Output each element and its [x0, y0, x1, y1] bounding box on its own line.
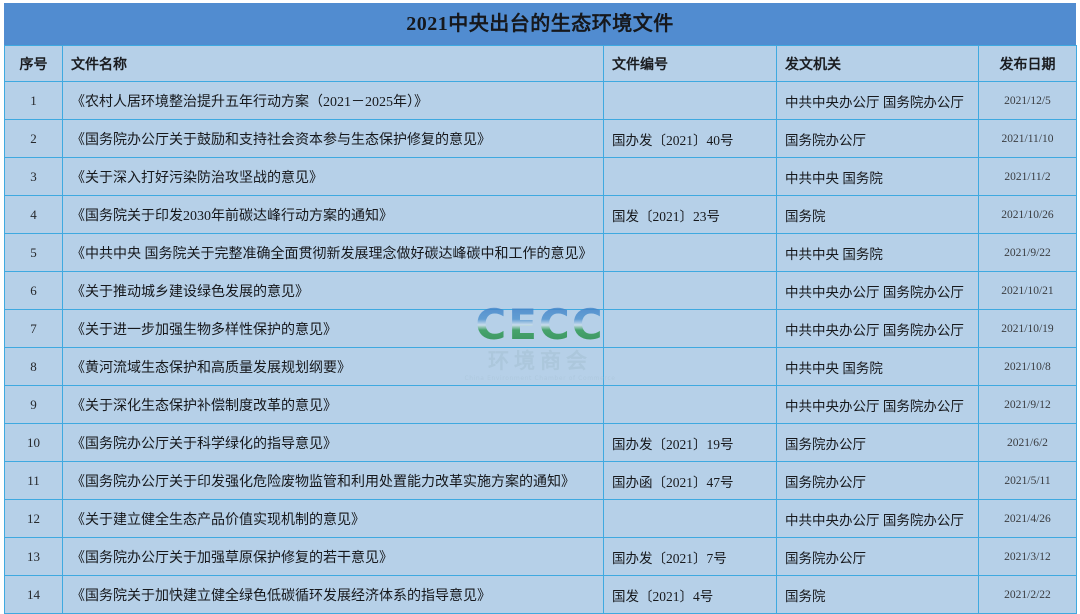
cell-date: 2021/12/5	[979, 82, 1077, 120]
cell-index: 9	[5, 386, 63, 424]
cell-issuer: 国务院办公厅	[777, 462, 979, 500]
cell-number	[604, 158, 777, 196]
column-header-name: 文件名称	[63, 46, 604, 82]
table-row: 10《国务院办公厅关于科学绿化的指导意见》国办发〔2021〕19号国务院办公厅2…	[5, 424, 1077, 462]
cell-number: 国发〔2021〕23号	[604, 196, 777, 234]
table-body: 1《农村人居环境整治提升五年行动方案（2021－2025年）》中共中央办公厅 国…	[5, 82, 1077, 614]
cell-index: 1	[5, 82, 63, 120]
cell-date: 2021/10/8	[979, 348, 1077, 386]
cell-name: 《国务院办公厅关于加强草原保护修复的若干意见》	[63, 538, 604, 576]
cell-date: 2021/9/12	[979, 386, 1077, 424]
cell-date: 2021/4/26	[979, 500, 1077, 538]
cell-number: 国发〔2021〕4号	[604, 576, 777, 614]
cell-index: 11	[5, 462, 63, 500]
cell-index: 7	[5, 310, 63, 348]
table-row: 2《国务院办公厅关于鼓励和支持社会资本参与生态保护修复的意见》国办发〔2021〕…	[5, 120, 1077, 158]
table-row: 11《国务院办公厅关于印发强化危险废物监管和利用处置能力改革实施方案的通知》国办…	[5, 462, 1077, 500]
cell-date: 2021/10/26	[979, 196, 1077, 234]
cell-name: 《关于深化生态保护补偿制度改革的意见》	[63, 386, 604, 424]
cell-issuer: 中共中央办公厅 国务院办公厅	[777, 386, 979, 424]
cell-number	[604, 82, 777, 120]
cell-issuer: 中共中央办公厅 国务院办公厅	[777, 310, 979, 348]
cell-index: 5	[5, 234, 63, 272]
cell-index: 6	[5, 272, 63, 310]
document-title-bar: 2021中央出台的生态环境文件	[4, 3, 1076, 45]
page-title: 2021中央出台的生态环境文件	[406, 14, 674, 34]
table-header: 序号 文件名称 文件编号 发文机关 发布日期	[5, 46, 1077, 82]
cell-name: 《关于深入打好污染防治攻坚战的意见》	[63, 158, 604, 196]
table-row: 12《关于建立健全生态产品价值实现机制的意见》中共中央办公厅 国务院办公厅202…	[5, 500, 1077, 538]
cell-issuer: 中共中央 国务院	[777, 158, 979, 196]
cell-number	[604, 234, 777, 272]
cell-index: 13	[5, 538, 63, 576]
cell-date: 2021/2/22	[979, 576, 1077, 614]
cell-number: 国办发〔2021〕40号	[604, 120, 777, 158]
cell-issuer: 中共中央办公厅 国务院办公厅	[777, 272, 979, 310]
cell-index: 4	[5, 196, 63, 234]
cell-name: 《关于推动城乡建设绿色发展的意见》	[63, 272, 604, 310]
table-row: 13《国务院办公厅关于加强草原保护修复的若干意见》国办发〔2021〕7号国务院办…	[5, 538, 1077, 576]
cell-name: 《关于建立健全生态产品价值实现机制的意见》	[63, 500, 604, 538]
table-row: 8《黄河流域生态保护和高质量发展规划纲要》中共中央 国务院2021/10/8	[5, 348, 1077, 386]
policy-documents-table: 序号 文件名称 文件编号 发文机关 发布日期 1《农村人居环境整治提升五年行动方…	[4, 45, 1077, 614]
table-row: 6《关于推动城乡建设绿色发展的意见》中共中央办公厅 国务院办公厅2021/10/…	[5, 272, 1077, 310]
cell-date: 2021/10/21	[979, 272, 1077, 310]
column-header-number: 文件编号	[604, 46, 777, 82]
cell-date: 2021/5/11	[979, 462, 1077, 500]
cell-issuer: 国务院	[777, 196, 979, 234]
document-table-container: 2021中央出台的生态环境文件 CECC 环境商会 China Environm…	[0, 0, 1080, 598]
cell-number	[604, 386, 777, 424]
column-header-index: 序号	[5, 46, 63, 82]
cell-index: 10	[5, 424, 63, 462]
cell-issuer: 中共中央办公厅 国务院办公厅	[777, 500, 979, 538]
cell-name: 《农村人居环境整治提升五年行动方案（2021－2025年）》	[63, 82, 604, 120]
table-row: 1《农村人居环境整治提升五年行动方案（2021－2025年）》中共中央办公厅 国…	[5, 82, 1077, 120]
cell-name: 《国务院办公厅关于科学绿化的指导意见》	[63, 424, 604, 462]
cell-number	[604, 500, 777, 538]
cell-name: 《国务院关于印发2030年前碳达峰行动方案的通知》	[63, 196, 604, 234]
table-row: 5《中共中央 国务院关于完整准确全面贯彻新发展理念做好碳达峰碳中和工作的意见》中…	[5, 234, 1077, 272]
cell-issuer: 国务院办公厅	[777, 424, 979, 462]
cell-number	[604, 348, 777, 386]
cell-index: 2	[5, 120, 63, 158]
cell-date: 2021/9/22	[979, 234, 1077, 272]
cell-index: 12	[5, 500, 63, 538]
table-header-row: 序号 文件名称 文件编号 发文机关 发布日期	[5, 46, 1077, 82]
cell-issuer: 国务院	[777, 576, 979, 614]
cell-number	[604, 310, 777, 348]
table-row: 9《关于深化生态保护补偿制度改革的意见》中共中央办公厅 国务院办公厅2021/9…	[5, 386, 1077, 424]
table-row: 14《国务院关于加快建立健全绿色低碳循环发展经济体系的指导意见》国发〔2021〕…	[5, 576, 1077, 614]
cell-name: 《国务院关于加快建立健全绿色低碳循环发展经济体系的指导意见》	[63, 576, 604, 614]
cell-name: 《中共中央 国务院关于完整准确全面贯彻新发展理念做好碳达峰碳中和工作的意见》	[63, 234, 604, 272]
table-row: 3《关于深入打好污染防治攻坚战的意见》中共中央 国务院2021/11/2	[5, 158, 1077, 196]
cell-number: 国办函〔2021〕47号	[604, 462, 777, 500]
cell-issuer: 中共中央办公厅 国务院办公厅	[777, 82, 979, 120]
column-header-date: 发布日期	[979, 46, 1077, 82]
cell-name: 《国务院办公厅关于印发强化危险废物监管和利用处置能力改革实施方案的通知》	[63, 462, 604, 500]
cell-index: 3	[5, 158, 63, 196]
cell-name: 《关于进一步加强生物多样性保护的意见》	[63, 310, 604, 348]
cell-date: 2021/11/2	[979, 158, 1077, 196]
cell-name: 《国务院办公厅关于鼓励和支持社会资本参与生态保护修复的意见》	[63, 120, 604, 158]
cell-issuer: 中共中央 国务院	[777, 234, 979, 272]
table-row: 4《国务院关于印发2030年前碳达峰行动方案的通知》国发〔2021〕23号国务院…	[5, 196, 1077, 234]
cell-number	[604, 272, 777, 310]
cell-date: 2021/10/19	[979, 310, 1077, 348]
cell-issuer: 中共中央 国务院	[777, 348, 979, 386]
cell-number: 国办发〔2021〕19号	[604, 424, 777, 462]
cell-issuer: 国务院办公厅	[777, 538, 979, 576]
cell-date: 2021/6/2	[979, 424, 1077, 462]
table-row: 7《关于进一步加强生物多样性保护的意见》中共中央办公厅 国务院办公厅2021/1…	[5, 310, 1077, 348]
column-header-issuer: 发文机关	[777, 46, 979, 82]
cell-number: 国办发〔2021〕7号	[604, 538, 777, 576]
cell-issuer: 国务院办公厅	[777, 120, 979, 158]
cell-date: 2021/3/12	[979, 538, 1077, 576]
cell-index: 14	[5, 576, 63, 614]
cell-date: 2021/11/10	[979, 120, 1077, 158]
cell-name: 《黄河流域生态保护和高质量发展规划纲要》	[63, 348, 604, 386]
cell-index: 8	[5, 348, 63, 386]
